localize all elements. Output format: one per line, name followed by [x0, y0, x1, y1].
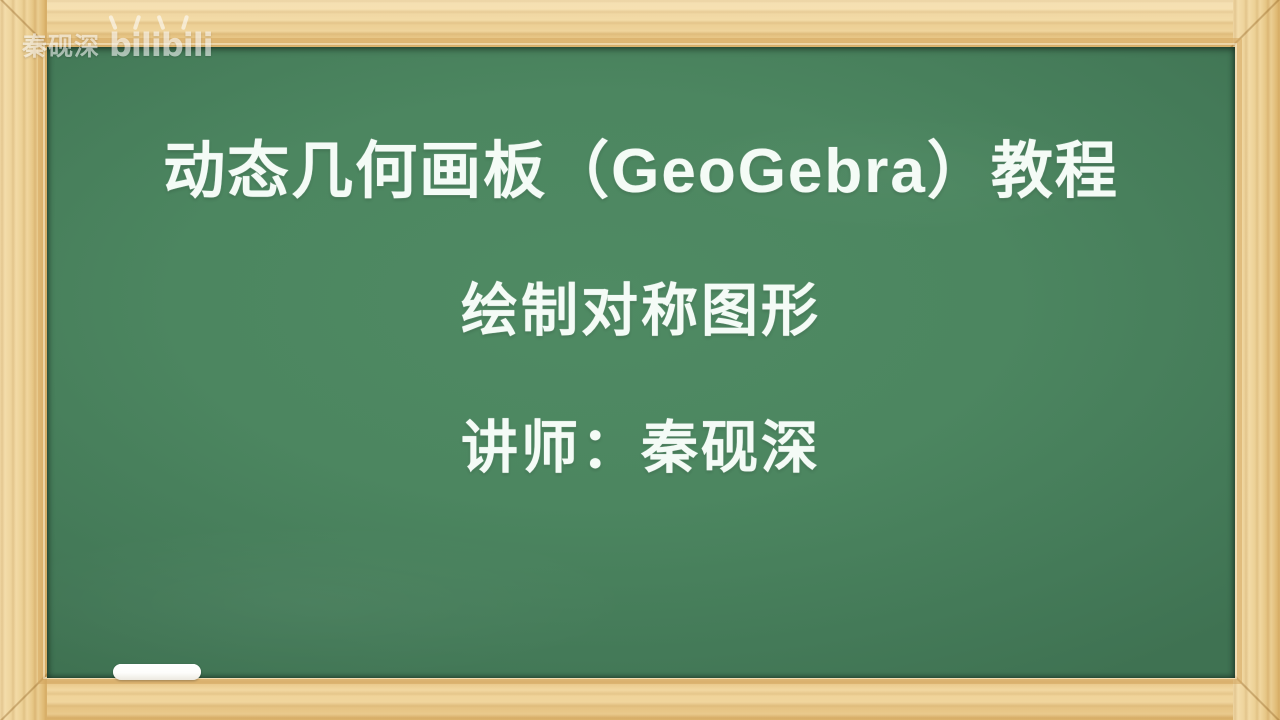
- chalk-stick-icon: [113, 664, 201, 680]
- watermark: 秦砚深 bilibili: [22, 26, 213, 64]
- bilibili-logo-text: bilibili: [109, 26, 213, 64]
- video-title-card: 秦砚深 bilibili 动态几何画板（GeoGebra）教程 绘制对称图形 讲…: [0, 0, 1280, 720]
- bilibili-logo-icon: bilibili: [109, 26, 213, 64]
- watermark-author-name: 秦砚深: [22, 27, 100, 63]
- chalkboard-surface: [47, 47, 1235, 678]
